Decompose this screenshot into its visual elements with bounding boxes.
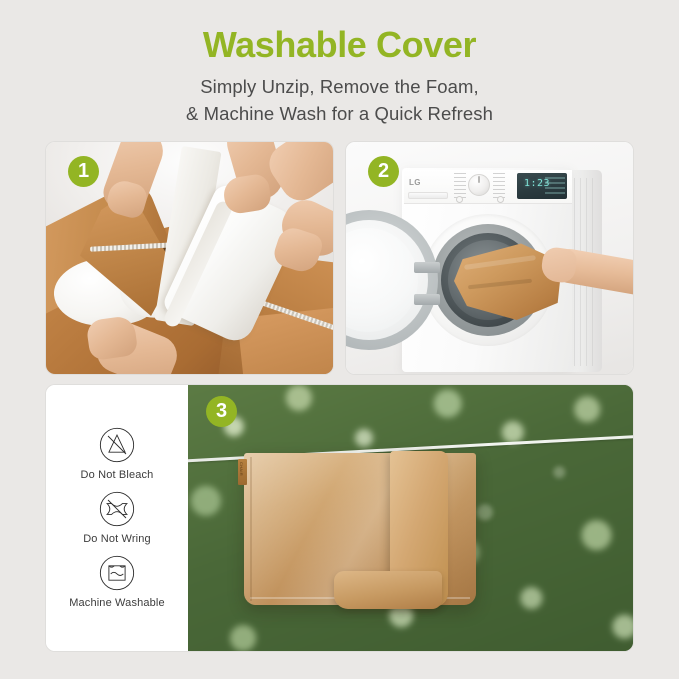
page-subtitle: Simply Unzip, Remove the Foam, & Machine… [0,74,679,127]
product-infographic-page: Washable Cover Simply Unzip, Remove the … [0,0,679,679]
clothesline-drying-photo: CHAIR [188,385,633,651]
do-not-bleach-icon [99,427,135,463]
control-button-left[interactable] [456,196,463,203]
care-item-do-not-wring: Do Not Wring [83,491,151,545]
care-label: Do Not Bleach [81,469,154,481]
control-button-right[interactable] [497,196,504,203]
do-not-wring-icon [99,491,135,527]
subtitle-line-1: Simply Unzip, Remove the Foam, [0,74,679,100]
detergent-drawer[interactable] [408,192,448,199]
door-hinge-upper [414,262,440,273]
program-dial-marker [478,176,480,183]
machine-washable-icon [99,555,135,591]
header: Washable Cover Simply Unzip, Remove the … [0,24,679,127]
door-hinge-lower [414,294,440,305]
subtitle-line-2: & Machine Wash for a Quick Refresh [0,101,679,127]
brand-tag: CHAIR [238,459,247,485]
care-label: Do Not Wring [83,533,151,545]
brand-tag-text: CHAIR [239,462,244,476]
lg-brand-logo: LG [409,178,421,187]
care-item-do-not-bleach: Do Not Bleach [81,427,154,481]
cover-bottom-fold [334,571,442,609]
step-3-card: Do Not Bleach Do Not Wring Mac [46,385,633,651]
care-symbols-panel: Do Not Bleach Do Not Wring Mac [46,385,188,651]
washer-display: 1:23 [517,173,567,199]
step-badge-3: 3 [206,396,237,427]
cover-left-seam [250,457,252,601]
step-badge-2: 2 [368,156,399,187]
hand-holding-cover-bottom [85,315,138,361]
care-label: Machine Washable [69,597,165,609]
step-badge-1: 1 [68,156,99,187]
display-indicator-rows [545,177,565,196]
care-item-machine-washable: Machine Washable [69,555,165,609]
page-title: Washable Cover [0,24,679,65]
